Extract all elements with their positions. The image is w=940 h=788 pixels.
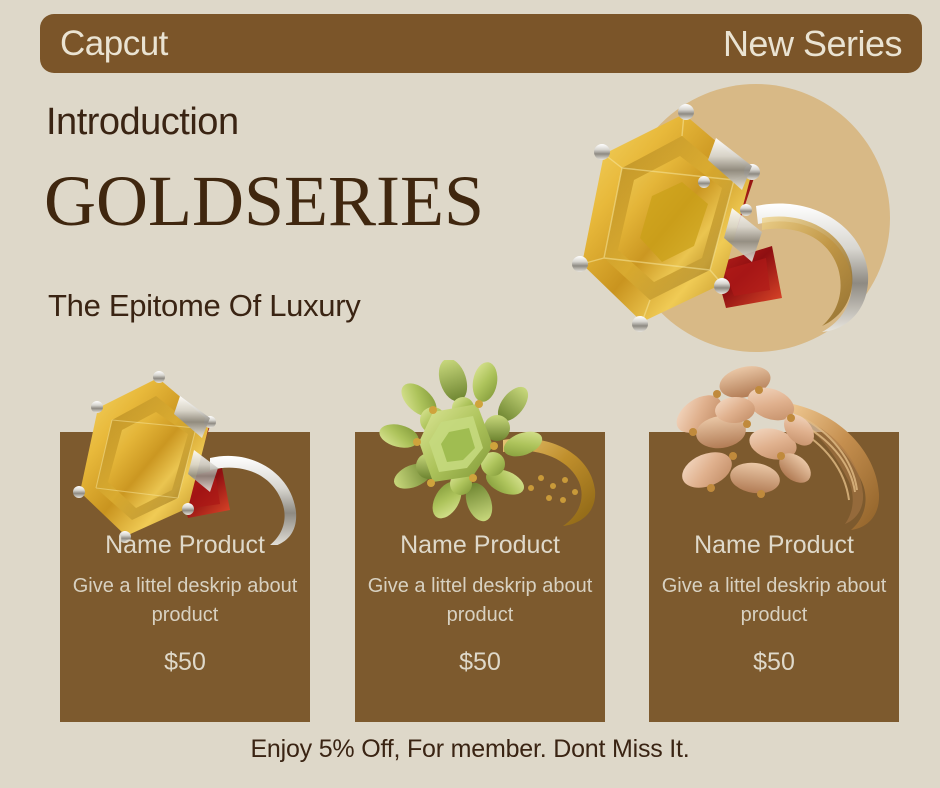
product-title: Name Product [355,532,605,560]
product-card-body: Name Product Give a littel deskrip about… [60,532,310,677]
poster-canvas: Capcut New Series [0,0,940,788]
product-title: Name Product [60,532,310,560]
product-ring-image-1 [60,370,310,545]
product-card[interactable]: Name Product Give a littel deskrip about… [60,432,310,722]
product-price: $50 [355,648,605,677]
product-price: $50 [60,648,310,677]
product-title: Name Product [649,532,899,560]
promo-footer: Enjoy 5% Off, For member. Dont Miss It. [0,735,940,764]
product-description: Give a littel deskrip about product [649,572,899,630]
product-price: $50 [649,648,899,677]
product-card-list: Name Product Give a littel deskrip about… [0,0,940,788]
product-card[interactable]: Name Product Give a littel deskrip about… [355,432,605,722]
product-card-body: Name Product Give a littel deskrip about… [649,532,899,677]
product-ring-image-2 [355,360,605,535]
product-ring-image-3 [649,360,899,535]
product-card[interactable]: Name Product Give a littel deskrip about… [649,432,899,722]
product-card-body: Name Product Give a littel deskrip about… [355,532,605,677]
product-description: Give a littel deskrip about product [60,572,310,630]
product-description: Give a littel deskrip about product [355,572,605,630]
